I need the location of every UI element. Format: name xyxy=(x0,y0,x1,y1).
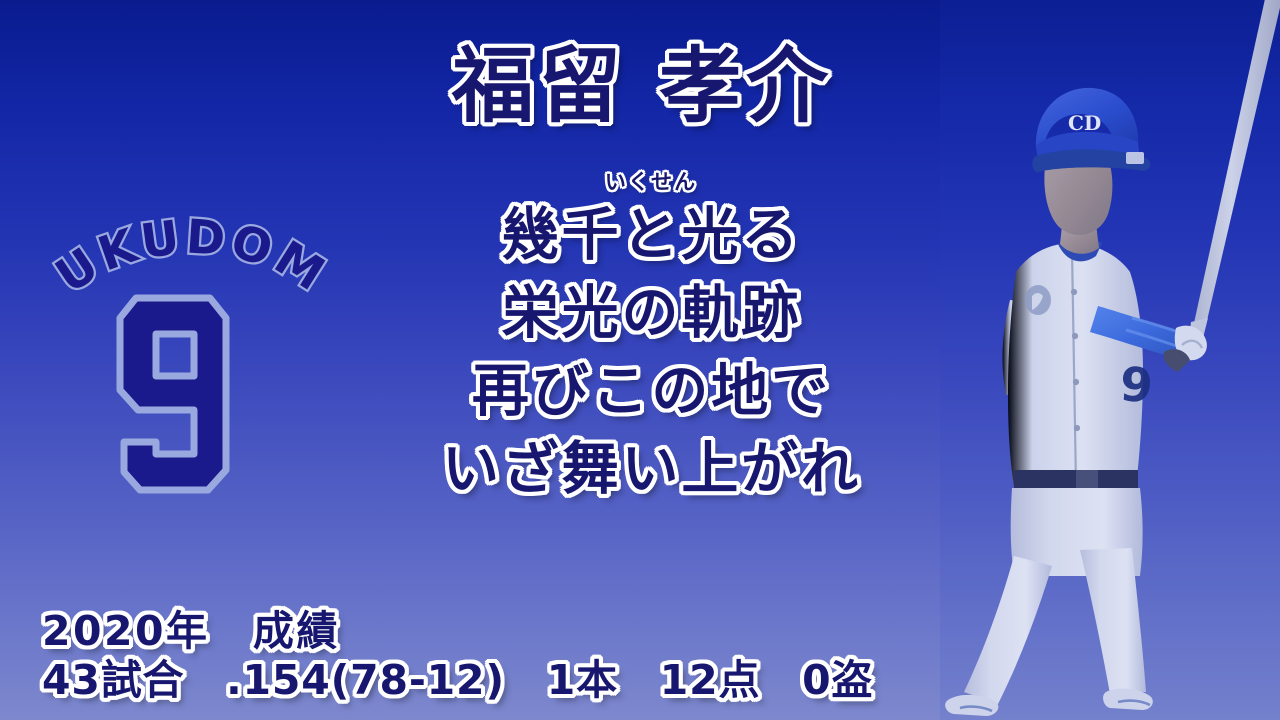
lyric-line-4: いざ舞い上がれ xyxy=(400,430,900,508)
jersey-arc-name: FUKUDOME xyxy=(42,196,337,304)
stats-detail-line: 43試合 .154(78-12) 1本 12点 0盗 xyxy=(42,656,873,706)
jersey-mark: FUKUDOME xyxy=(42,196,342,496)
stats-season-label: 2020年 成績 xyxy=(42,607,873,657)
season-stats-block: 2020年 成績 43試合 .154(78-12) 1本 12点 0盗 xyxy=(42,607,873,706)
broadcast-graphic-stage: 9 CD xyxy=(0,0,1280,720)
page-title: 福留 孝介 xyxy=(0,44,1280,129)
jersey-number-9 xyxy=(120,298,226,490)
lyric-line-1-ruby-wrap: いくせん 幾千と光る xyxy=(400,196,900,274)
lyric-line-3: 再びこの地で xyxy=(400,352,900,430)
lyrics-block: いくせん 幾千と光る 栄光の軌跡 再びこの地で いざ舞い上がれ xyxy=(400,196,900,508)
furigana-ikusen: いくせん xyxy=(603,166,698,196)
lyric-line-1: 幾千と光る xyxy=(400,196,900,274)
lyric-line-2: 栄光の軌跡 xyxy=(400,274,900,352)
